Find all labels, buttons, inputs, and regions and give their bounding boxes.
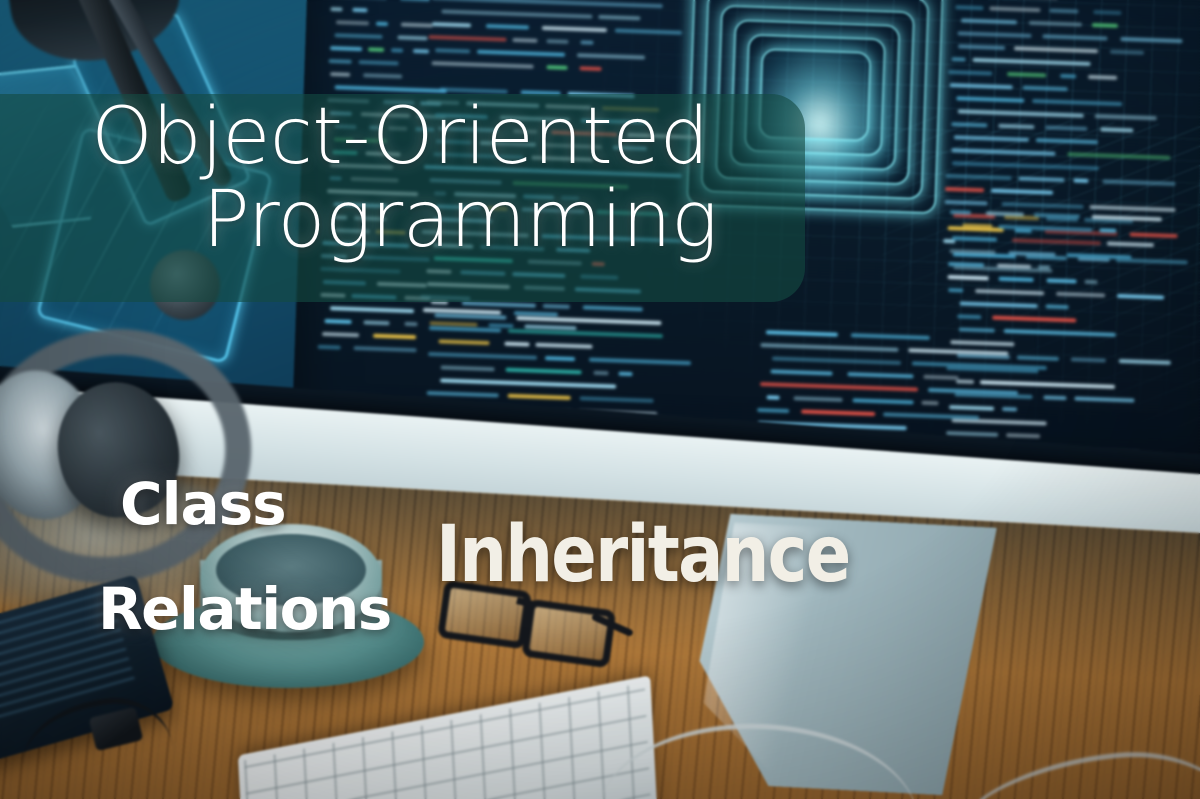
code-line [944,174,1194,187]
code-line [947,301,1197,314]
code-line [429,9,709,23]
code-line [949,18,1199,31]
code-line [428,339,728,353]
code-line [946,314,1196,327]
code-line [429,22,709,36]
label-relations: Relations [98,575,391,643]
code-line [429,326,729,340]
code-line [427,74,707,88]
code-line [943,187,1193,200]
code-line [949,5,1199,18]
code-line [949,223,1199,236]
title-line-1: Object-Oriented [0,96,800,179]
code-line [759,343,1059,357]
label-class: Class [120,470,286,538]
code-line [944,161,1194,174]
code-line [946,109,1196,122]
label-inheritance: Inheritance [436,510,849,600]
code-line [947,70,1197,83]
code-line [945,122,1195,135]
code-line [950,0,1200,5]
code-line [948,31,1198,44]
code-line [946,96,1196,109]
code-line [428,352,728,366]
code-line [758,395,1058,409]
code-line [945,135,1195,148]
code-line [949,236,1199,249]
page-title: Object-Oriented Programming [0,96,800,261]
code-line [428,365,728,379]
code-line [948,44,1198,57]
code-line [427,378,727,392]
code-line [318,345,438,353]
code-line [428,48,708,62]
title-line-2: Programming [0,179,800,262]
code-line [428,35,708,49]
code-line [429,313,729,327]
code-line [947,288,1197,301]
code-line [948,249,1198,262]
code-line [944,148,1194,161]
code-line [757,408,1057,422]
code-line [948,57,1198,70]
poster-image: Object-Oriented Programming Class Relati… [0,0,1200,799]
code-line [759,356,1059,370]
code-line [758,382,1058,396]
code-line [428,61,708,75]
code-line [948,275,1198,288]
code-line [948,262,1198,275]
code-line [758,369,1058,383]
code-line [947,83,1197,96]
